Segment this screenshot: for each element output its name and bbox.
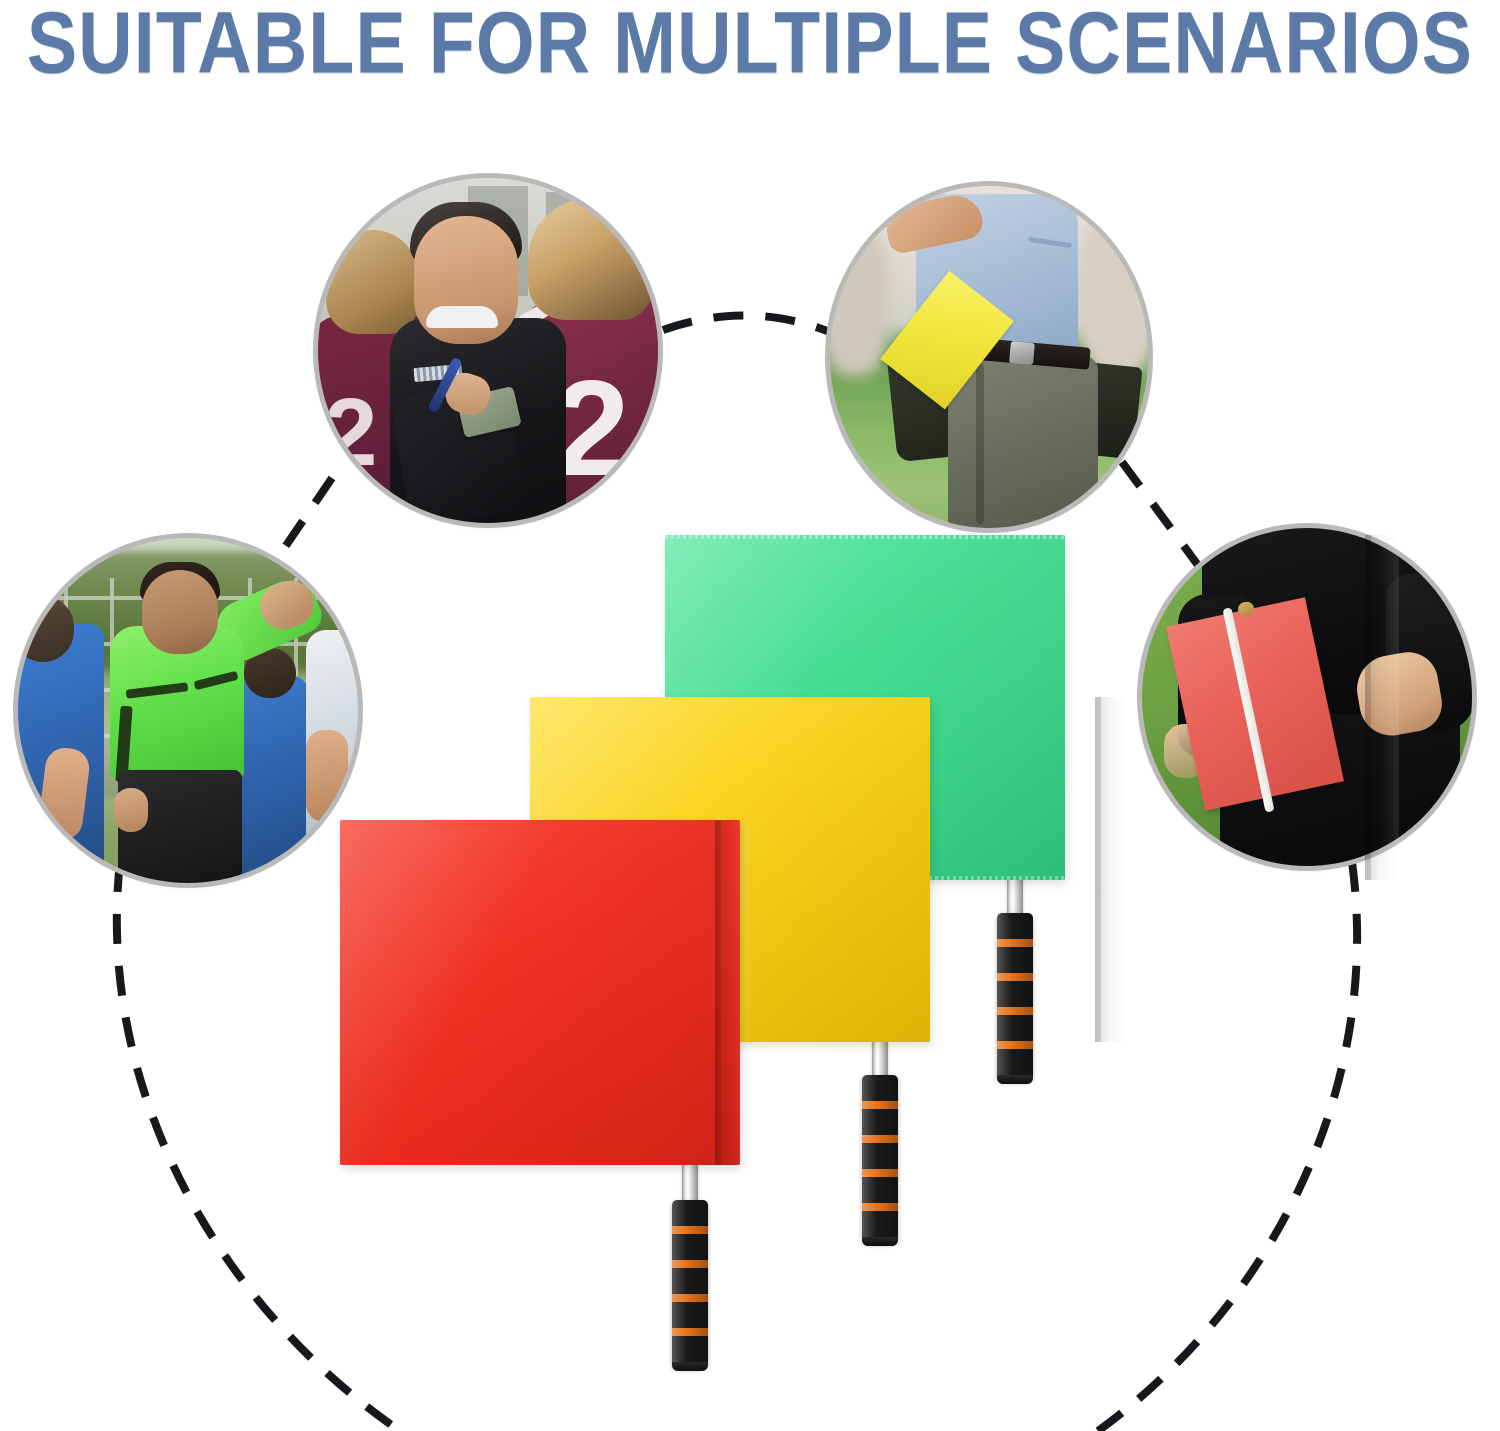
player-left-number: 2 <box>324 378 377 488</box>
referee-head <box>142 570 218 654</box>
player-far-right <box>628 328 658 523</box>
background-figure <box>830 226 890 376</box>
referee-collar <box>426 306 498 328</box>
official-trousers <box>948 356 1098 528</box>
photo-scene <box>830 186 1148 528</box>
scenario-photo-referee-signal[interactable] <box>18 538 358 883</box>
scenario-photo-yellow-flag-hip[interactable] <box>830 186 1148 528</box>
belt-buckle <box>1009 341 1035 365</box>
player-left-hair <box>326 230 418 334</box>
photo-scene <box>18 538 358 883</box>
flag-grip-cap-yellow <box>862 1237 898 1246</box>
photo-scene: 2 2 <box>318 178 658 523</box>
scenario-photo-referee-booking[interactable]: 2 2 <box>318 178 658 523</box>
product-flag-set[interactable] <box>320 515 1090 1415</box>
referee-hand <box>114 788 148 832</box>
connector-bottom-right-arc <box>1098 862 1357 1431</box>
player-right-hair <box>528 198 652 320</box>
flag-grip-green <box>997 913 1033 1081</box>
flag-grip-cap-red <box>672 1362 708 1371</box>
photo-scene <box>1142 528 1472 866</box>
page-title: SUITABLE FOR MULTIPLE SCENARIOS <box>27 0 1473 88</box>
flag-sleeve-edge <box>1365 535 1371 880</box>
flag-grip-yellow <box>862 1075 898 1243</box>
header-banner: SUITABLE FOR MULTIPLE SCENARIOS <box>0 0 1500 86</box>
flag-grip-red <box>672 1200 708 1368</box>
flag-sleeve-edge <box>1095 697 1101 1042</box>
scenario-photo-red-flag-hand[interactable] <box>1142 528 1472 866</box>
flag-sleeve-wrap-red <box>340 820 740 1165</box>
flag-grip-cap-green <box>997 1075 1033 1084</box>
player-blue-left-head <box>18 596 74 662</box>
connector-top <box>663 315 830 332</box>
trouser-fold <box>976 364 984 524</box>
flag-sleeve-edge <box>715 820 721 1165</box>
